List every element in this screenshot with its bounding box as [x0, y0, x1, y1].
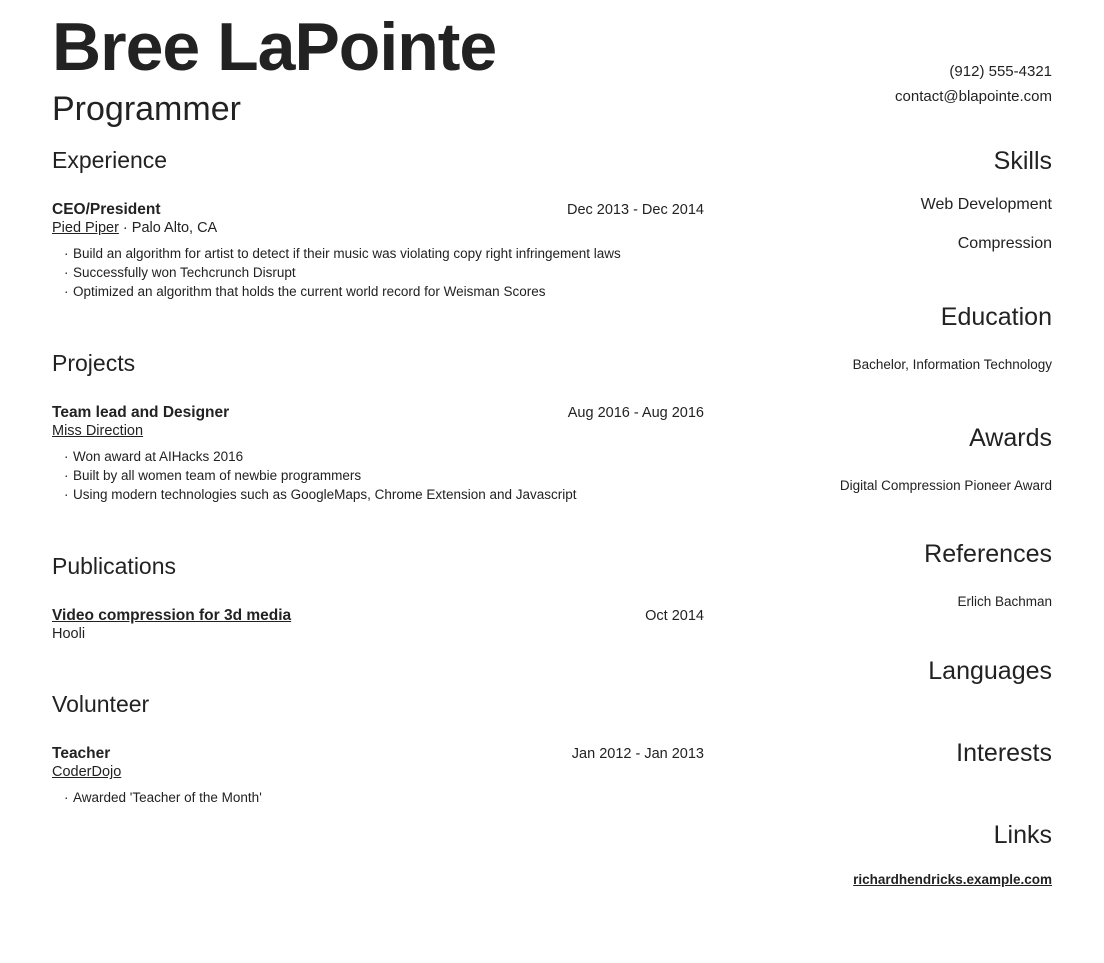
list-item-text: Won award at AIHacks 2016 — [73, 449, 243, 464]
sidebar-item: Compression — [722, 233, 1052, 255]
resume-header: Bree LaPointe Programmer (912) 555-4321 … — [52, 0, 1052, 148]
list-item: ·Built by all women team of newbie progr… — [52, 466, 704, 485]
contact-phone: (912) 555-4321 — [895, 59, 1052, 84]
resume-page: Bree LaPointe Programmer (912) 555-4321 … — [0, 0, 1104, 963]
entry-organization: Hooli — [52, 626, 85, 642]
section-publications: PublicationsVideo compression for 3d med… — [52, 554, 704, 644]
entry-role[interactable]: Video compression for 3d media — [52, 606, 291, 625]
section-experience: ExperienceCEO/PresidentDec 2013 - Dec 20… — [52, 148, 704, 301]
bullet-icon: · — [64, 485, 73, 504]
entry-header: Video compression for 3d mediaOct 2014 — [52, 606, 704, 625]
entry-organization-line: CoderDojo — [52, 763, 704, 782]
sidebar-section-awards: AwardsDigital Compression Pioneer Award — [722, 425, 1052, 496]
sidebar-section-heading: Interests — [722, 740, 1052, 768]
sidebar-section-education: EducationBachelor, Information Technolog… — [722, 304, 1052, 375]
entry-organization-line: Miss Direction — [52, 422, 704, 441]
sidebar-section-heading: Skills — [722, 148, 1052, 176]
entry-header: CEO/PresidentDec 2013 - Dec 2014 — [52, 200, 704, 219]
entry-role: CEO/President — [52, 200, 161, 219]
section-projects: ProjectsTeam lead and DesignerAug 2016 -… — [52, 351, 704, 504]
bullet-icon: · — [64, 244, 73, 263]
entry-organization[interactable]: CoderDojo — [52, 764, 121, 780]
sidebar-section-interests: Interests — [722, 740, 1052, 768]
entry-location: Palo Alto, CA — [132, 220, 217, 236]
entry-highlights: ·Awarded 'Teacher of the Month' — [52, 788, 704, 807]
page-title: Bree LaPointe — [52, 14, 496, 81]
bullet-icon: · — [64, 788, 73, 807]
entry: Team lead and DesignerAug 2016 - Aug 201… — [52, 403, 704, 504]
sidebar-item: Bachelor, Information Technology — [722, 355, 1052, 375]
list-item-text: Awarded 'Teacher of the Month' — [73, 790, 262, 805]
contact-email: contact@blapointe.com — [895, 84, 1052, 109]
entry-highlights: ·Won award at AIHacks 2016·Built by all … — [52, 447, 704, 504]
sidebar-section-heading: Awards — [722, 425, 1052, 453]
bullet-icon: · — [64, 466, 73, 485]
section-heading: Experience — [52, 148, 704, 173]
list-item: ·Build an algorithm for artist to detect… — [52, 244, 704, 263]
section-heading: Volunteer — [52, 692, 704, 717]
sidebar-section-heading: References — [722, 541, 1052, 569]
entry: TeacherJan 2012 - Jan 2013CoderDojo·Awar… — [52, 744, 704, 807]
section-heading: Publications — [52, 554, 704, 579]
entry-date: Jan 2012 - Jan 2013 — [572, 745, 704, 764]
bullet-icon: · — [64, 263, 73, 282]
identity-block: Bree LaPointe Programmer — [52, 14, 496, 127]
sidebar-item: Erlich Bachman — [722, 592, 1052, 612]
entry-organization-line: Pied Piper · Palo Alto, CA — [52, 219, 704, 238]
sidebar-section-heading: Links — [722, 822, 1052, 850]
list-item: ·Using modern technologies such as Googl… — [52, 485, 704, 504]
list-item-text: Successfully won Techcrunch Disrupt — [73, 265, 296, 280]
list-item-text: Optimized an algorithm that holds the cu… — [73, 284, 545, 299]
entry-header: Team lead and DesignerAug 2016 - Aug 201… — [52, 403, 704, 422]
entry-separator: · — [119, 220, 132, 236]
sidebar-item: Digital Compression Pioneer Award — [722, 476, 1052, 496]
entry-header: TeacherJan 2012 - Jan 2013 — [52, 744, 704, 763]
sidebar-section-skills: SkillsWeb DevelopmentCompression — [722, 148, 1052, 255]
list-item-text: Built by all women team of newbie progra… — [73, 468, 361, 483]
sidebar-item: Web Development — [722, 194, 1052, 216]
entry-organization[interactable]: Miss Direction — [52, 423, 143, 439]
entry-role: Team lead and Designer — [52, 403, 229, 422]
sidebar-link[interactable]: richardhendricks.example.com — [722, 870, 1052, 890]
entry-highlights: ·Build an algorithm for artist to detect… — [52, 244, 704, 301]
sidebar-section-references: ReferencesErlich Bachman — [722, 541, 1052, 612]
sidebar-section-languages: Languages — [722, 658, 1052, 686]
entry-date: Aug 2016 - Aug 2016 — [568, 404, 704, 423]
job-title: Programmer — [52, 92, 496, 128]
list-item-text: Using modern technologies such as Google… — [73, 487, 577, 502]
entry-organization[interactable]: Pied Piper — [52, 220, 119, 236]
sidebar-section-links: Linksrichardhendricks.example.com — [722, 822, 1052, 890]
sidebar-section-heading: Education — [722, 304, 1052, 332]
section-heading: Projects — [52, 351, 704, 376]
list-item: ·Optimized an algorithm that holds the c… — [52, 282, 704, 301]
list-item: ·Successfully won Techcrunch Disrupt — [52, 263, 704, 282]
list-item: ·Awarded 'Teacher of the Month' — [52, 788, 704, 807]
entry-date: Dec 2013 - Dec 2014 — [567, 201, 704, 220]
sidebar-section-heading: Languages — [722, 658, 1052, 686]
entry-role: Teacher — [52, 744, 110, 763]
contact-block: (912) 555-4321 contact@blapointe.com — [895, 59, 1052, 109]
list-item-text: Build an algorithm for artist to detect … — [73, 246, 621, 261]
entry-date: Oct 2014 — [645, 607, 704, 626]
list-item: ·Won award at AIHacks 2016 — [52, 447, 704, 466]
entry-organization-line: Hooli — [52, 625, 704, 644]
section-volunteer: VolunteerTeacherJan 2012 - Jan 2013Coder… — [52, 692, 704, 807]
bullet-icon: · — [64, 447, 73, 466]
bullet-icon: · — [64, 282, 73, 301]
entry: CEO/PresidentDec 2013 - Dec 2014Pied Pip… — [52, 200, 704, 301]
entry: Video compression for 3d mediaOct 2014Ho… — [52, 606, 704, 644]
